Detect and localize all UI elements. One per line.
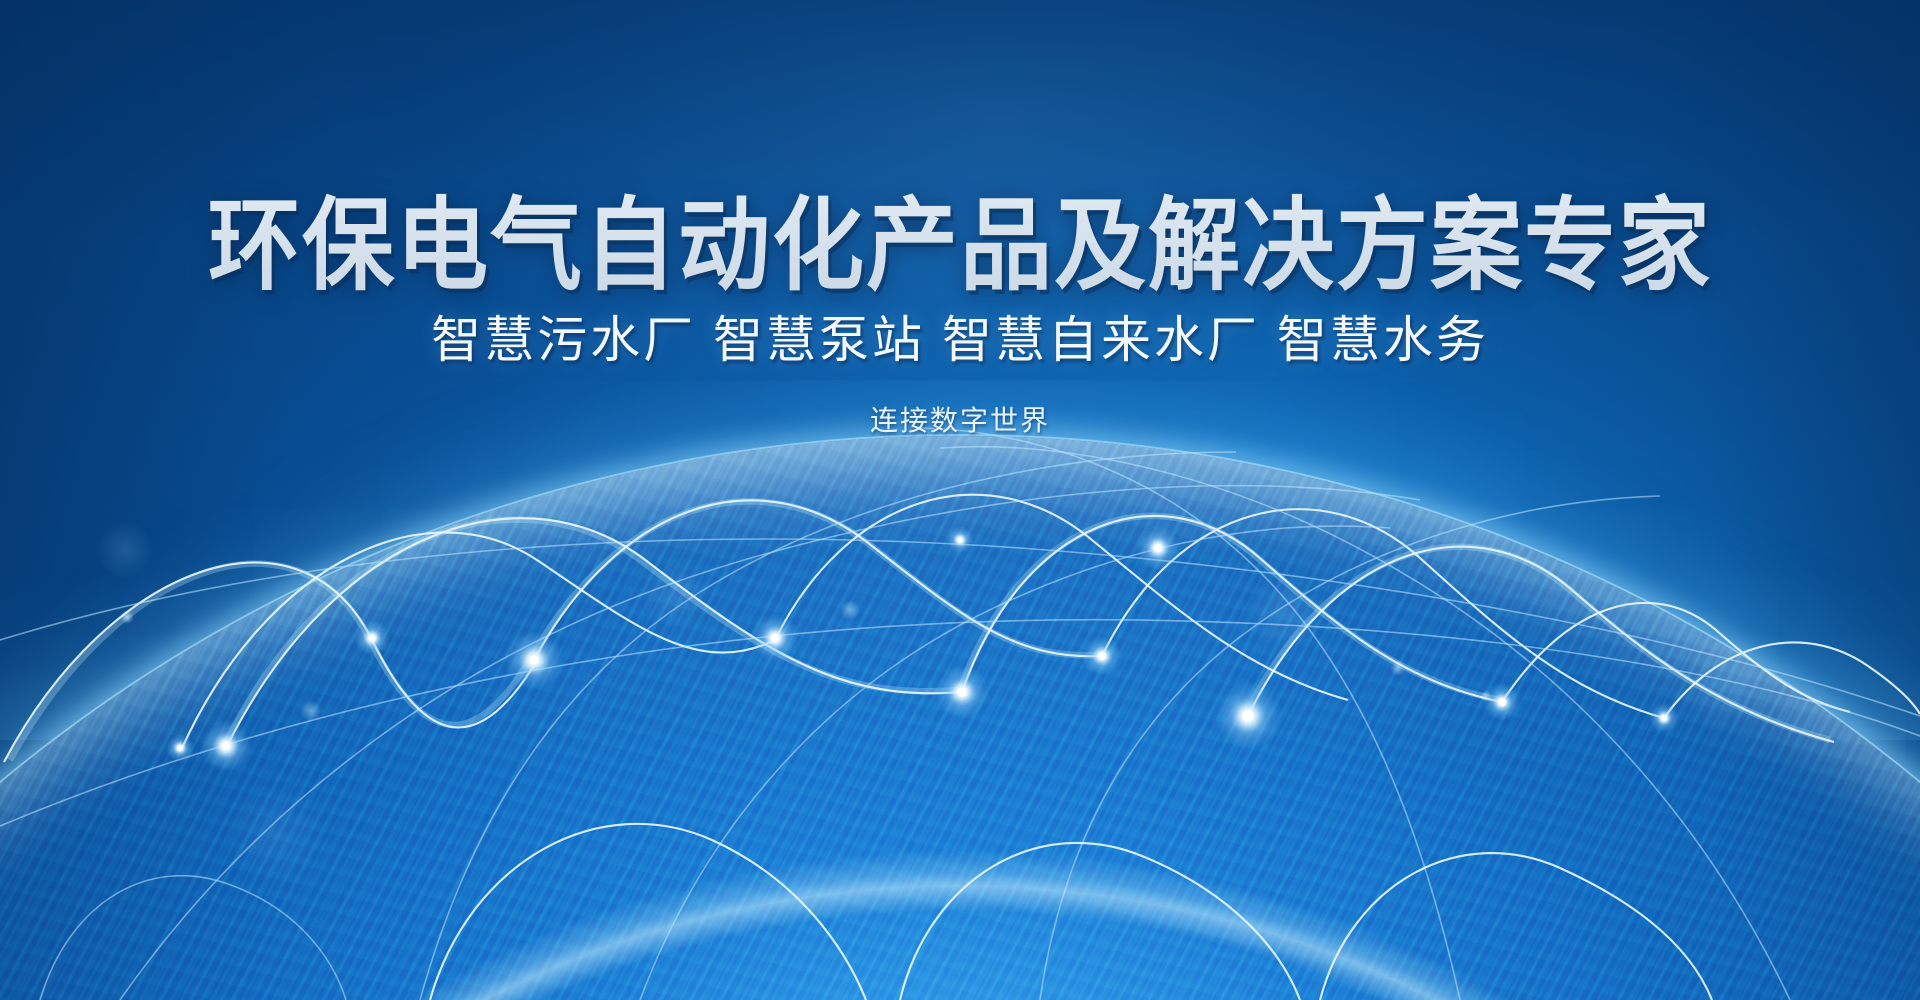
hero-banner: 环保电气自动化产品及解决方案专家 智慧污水厂 智慧泵站 智慧自来水厂 智慧水务 …	[0, 0, 1920, 1000]
globe-graphic	[0, 380, 1920, 1000]
globe-sphere	[0, 436, 1920, 1000]
banner-tagline: 连接数字世界	[0, 370, 1920, 438]
page-title: 环保电气自动化产品及解决方案专家	[0, 0, 1920, 301]
banner-copy: 环保电气自动化产品及解决方案专家 智慧污水厂 智慧泵站 智慧自来水厂 智慧水务 …	[0, 0, 1920, 437]
globe-limb-highlight	[0, 436, 1920, 1000]
